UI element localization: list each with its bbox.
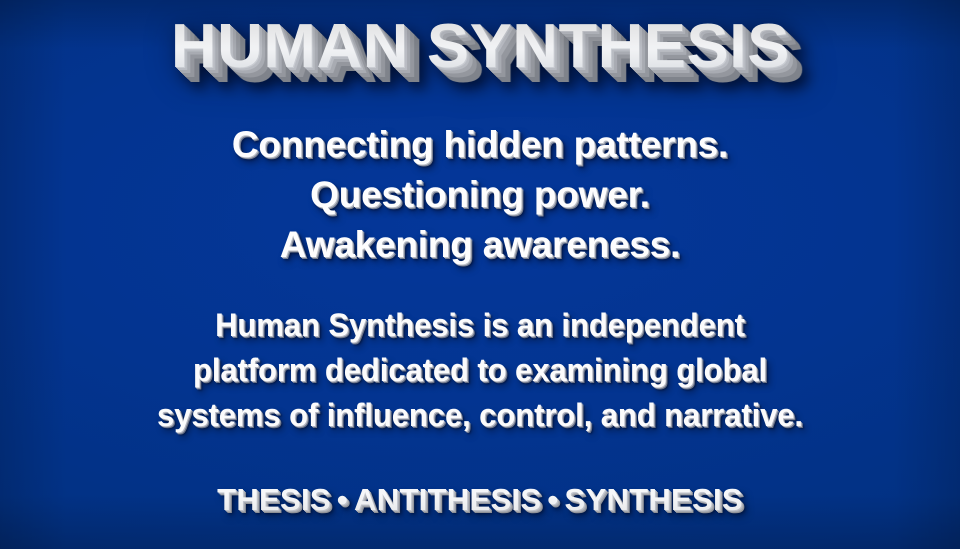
motto-item-synthesis: SYNTHESIS — [564, 482, 742, 517]
bullet-separator-icon: • — [331, 482, 354, 517]
title-block: HUMAN SYNTHESIS — [0, 16, 960, 78]
description-line-2: platform dedicated to examining global — [14, 348, 945, 393]
description-line-3: systems of influence, control, and narra… — [14, 393, 945, 438]
tagline-block: Connecting hidden patterns. Questioning … — [0, 120, 960, 270]
motto-item-thesis: THESIS — [217, 482, 331, 517]
motto-item-antithesis: ANTITHESIS — [354, 482, 541, 517]
page-title: HUMAN SYNTHESIS — [170, 16, 789, 78]
motto-block: THESIS•ANTITHESIS•SYNTHESIS — [0, 480, 960, 520]
tagline-line-3: Awakening awareness. — [0, 220, 960, 270]
description-block: Human Synthesis is an independent platfo… — [0, 303, 960, 438]
tagline-line-2: Questioning power. — [0, 170, 960, 220]
bullet-separator-icon: • — [541, 482, 564, 517]
description-line-1: Human Synthesis is an independent — [14, 303, 945, 348]
motto-text: THESIS•ANTITHESIS•SYNTHESIS — [217, 480, 743, 520]
banner-canvas: HUMAN SYNTHESIS Connecting hidden patter… — [0, 0, 960, 549]
tagline-line-1: Connecting hidden patterns. — [0, 120, 960, 170]
